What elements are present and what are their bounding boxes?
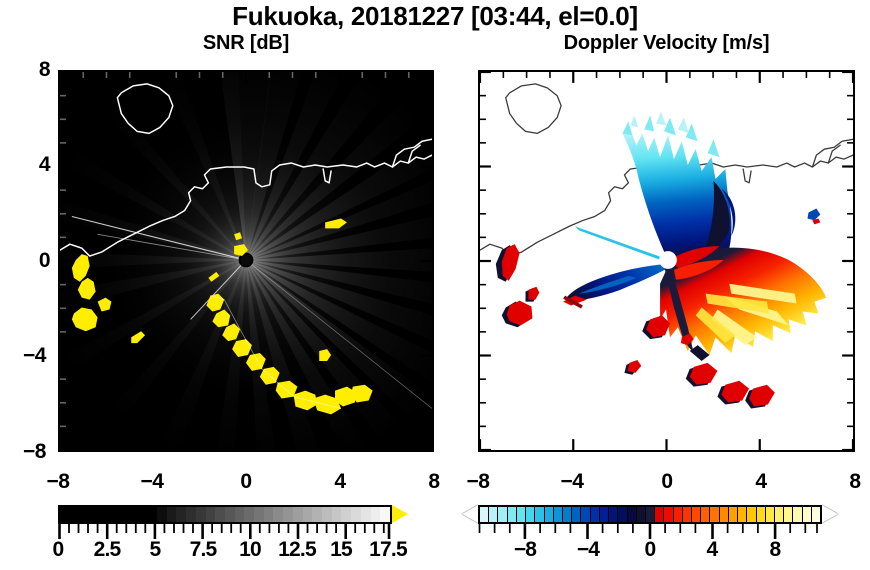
snr-xtick-neg4: −4 bbox=[126, 470, 178, 494]
snr-panel-title: SNR [dB] bbox=[58, 32, 434, 55]
snr-ytick-neg4: −4 bbox=[0, 344, 46, 368]
doppler-panel-title: Doppler Velocity [m/s] bbox=[478, 32, 855, 55]
snr-xtick-4: 4 bbox=[314, 470, 366, 494]
doppler-xtick-4: 4 bbox=[735, 470, 787, 494]
doppler-frame-ticks bbox=[480, 72, 853, 450]
doppler-plot-panel[interactable] bbox=[478, 70, 855, 452]
snr-ytick-neg8: −8 bbox=[0, 440, 46, 464]
snr-cbar-label-7-5: 7.5 bbox=[176, 538, 230, 562]
snr-cbar-label-17-5: 17.5 bbox=[355, 538, 421, 562]
snr-xtick-0: 0 bbox=[220, 470, 272, 494]
snr-cbar-label-2-5: 2.5 bbox=[80, 538, 134, 562]
snr-plot-panel[interactable] bbox=[58, 70, 434, 452]
snr-xtick-neg8: −8 bbox=[32, 470, 84, 494]
snr-ytick-4: 4 bbox=[4, 153, 50, 177]
snr-ytick-0: 0 bbox=[4, 249, 50, 273]
page-title: Fukuoka, 20181227 [03:44, el=0.0] bbox=[0, 1, 870, 32]
snr-ytick-8: 8 bbox=[4, 58, 50, 82]
doppler-xtick-neg8: −8 bbox=[452, 470, 504, 494]
doppler-cbar-label-neg8: −8 bbox=[496, 538, 554, 562]
doppler-xtick-0: 0 bbox=[641, 470, 693, 494]
doppler-xtick-neg4: −4 bbox=[546, 470, 598, 494]
snr-cbar-label-0: 0 bbox=[39, 538, 77, 562]
doppler-colorbar-ticks bbox=[462, 505, 838, 539]
doppler-cbar-label-0: 0 bbox=[622, 538, 678, 562]
doppler-xtick-8: 8 bbox=[829, 470, 870, 494]
snr-colorbar-ticks bbox=[58, 505, 400, 539]
doppler-cbar-label-neg4: −4 bbox=[559, 538, 617, 562]
doppler-cbar-label-8: 8 bbox=[747, 538, 803, 562]
snr-frame-ticks bbox=[60, 72, 432, 450]
snr-cbar-label-5: 5 bbox=[136, 538, 174, 562]
doppler-cbar-label-4: 4 bbox=[684, 538, 740, 562]
